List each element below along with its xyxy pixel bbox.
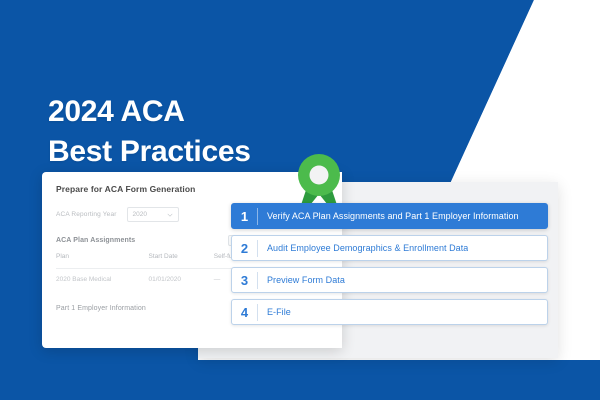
cell-plan: 2020 Base Medical	[56, 269, 148, 285]
step-number-1: 1	[232, 209, 257, 224]
reporting-year-label: ACA Reporting Year	[56, 211, 117, 218]
step-number-4: 4	[232, 305, 257, 320]
page-title-line-1: 2024 ACA	[48, 95, 185, 128]
step-number-3: 3	[232, 273, 257, 288]
page-title-line-2: Best Practices	[48, 132, 251, 172]
step-item-4[interactable]: 4 E-File	[231, 299, 548, 325]
steps-list: 1 Verify ACA Plan Assignments and Part 1…	[231, 203, 548, 331]
cell-start-date: 01/01/2020	[148, 269, 213, 285]
step-label-2: Audit Employee Demographics & Enrollment…	[258, 243, 468, 253]
step-label-3: Preview Form Data	[258, 275, 345, 285]
step-item-2[interactable]: 2 Audit Employee Demographics & Enrollme…	[231, 235, 548, 261]
slide-canvas: 2024 ACA Best Practices Prepare for ACA …	[0, 0, 600, 400]
reporting-year-value: 2020	[133, 211, 147, 218]
step-label-1: Verify ACA Plan Assignments and Part 1 E…	[258, 211, 519, 221]
app-card-title: Prepare for ACA Form Generation	[56, 184, 328, 194]
step-label-4: E-File	[258, 307, 291, 317]
step-item-3[interactable]: 3 Preview Form Data	[231, 267, 548, 293]
column-header-plan: Plan	[56, 253, 148, 269]
chevron-down-icon	[167, 212, 173, 218]
step-item-1[interactable]: 1 Verify ACA Plan Assignments and Part 1…	[231, 203, 548, 229]
column-header-start-date: Start Date	[148, 253, 213, 269]
step-number-2: 2	[232, 241, 257, 256]
reporting-year-select[interactable]: 2020	[127, 207, 179, 222]
